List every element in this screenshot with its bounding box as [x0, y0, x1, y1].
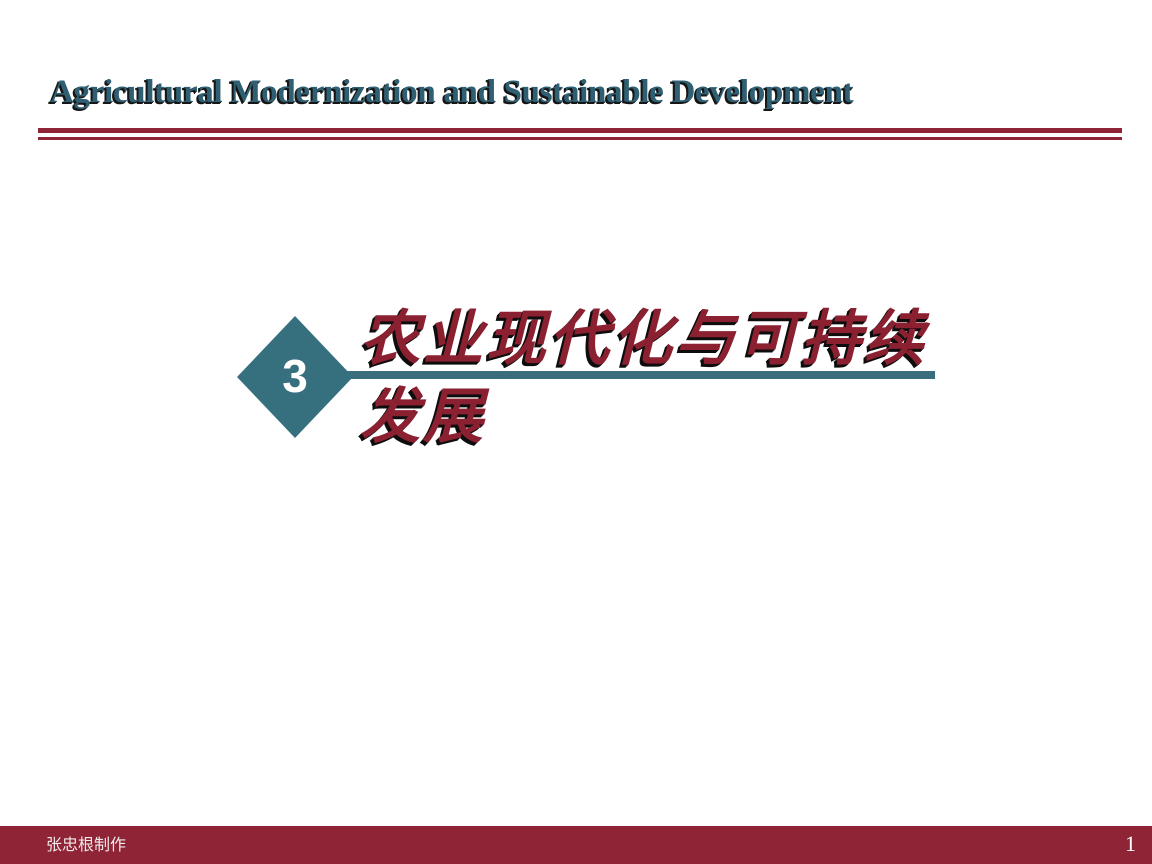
section-heading-block: 3 农业现代化与可持续 发展 — [0, 300, 1152, 480]
page-title: Agricultural Modernization and Sustainab… — [50, 72, 1110, 112]
footer-page-number: 1 — [1125, 831, 1136, 857]
footer-bar: 张忠根制作 1 — [0, 826, 1152, 864]
section-number-badge: 3 — [237, 316, 353, 438]
footer-author-label: 张忠根制作 — [46, 835, 126, 855]
slide-canvas: Agricultural Modernization and Sustainab… — [0, 0, 1152, 864]
section-heading-text: 农业现代化与可持续 发展 — [360, 300, 1060, 456]
section-number-label: 3 — [237, 316, 353, 438]
header-rule-thin — [38, 137, 1122, 140]
header-rule-thick — [38, 128, 1122, 133]
